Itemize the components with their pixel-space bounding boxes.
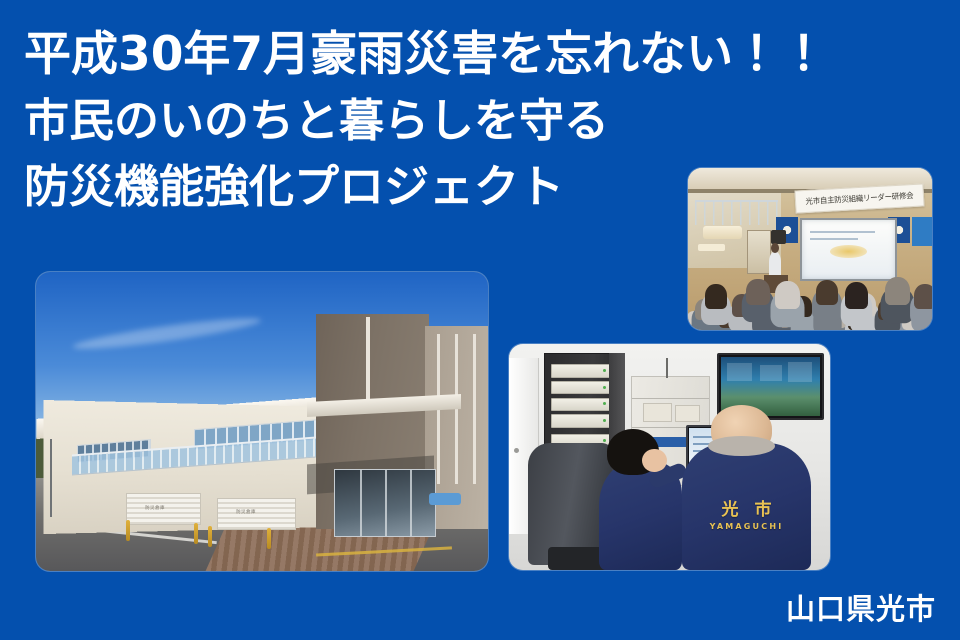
status-led [603,402,606,405]
door-knob [514,448,519,453]
garage-shutter-label: 防災倉庫 [146,504,166,510]
city-credit: 山口県光市 [786,590,936,628]
storage-box [675,405,700,422]
status-led [603,419,606,422]
building-entrance [334,469,435,537]
operator-person-left [599,462,682,570]
audience-person [845,282,869,308]
bollard [126,520,130,541]
status-led [603,439,606,442]
seminar-banner-text: 光市自主防災組織リーダー研修会 [806,190,914,208]
cabinet-shelf [632,398,709,399]
poster-canvas: 平成30年7月豪雨災害を忘れない！！ 市民のいのちと暮らしを守る 防災機能強化プ… [0,0,960,640]
door-mullion [410,470,412,536]
loudspeaker [771,230,786,245]
audience-person [775,281,800,309]
camera-tile [727,363,753,381]
balcony-rail [695,200,778,225]
antenna [666,358,668,378]
wall-light [698,244,725,250]
organization-flag [912,217,932,246]
bollard [194,523,198,544]
audience-person [885,277,910,305]
audience-person [746,279,770,305]
slide-text-line [810,238,858,240]
operator-person-right: 光 市 YAMAGUCHI [682,443,810,570]
status-led [603,386,606,389]
leader-training-seminar-photo: 光市自主防災組織リーダー研修会 [688,168,932,330]
rack-unit [551,414,611,428]
storage-box [643,403,673,422]
hair [708,436,775,456]
title-line-1: 平成30年7月豪雨災害を忘れない！！ [24,22,724,88]
door-mullion [360,470,362,536]
tower-fin [366,317,370,407]
audience-person [816,280,838,305]
garage-shutter-label: 防災倉庫 [236,509,256,515]
audience-group [688,259,932,330]
seminar-scene: 光市自主防災組織リーダー研修会 [688,168,932,330]
jacket-kanji-2: 市 [755,502,772,519]
rack-unit [551,398,611,412]
slide-graphic [830,245,867,258]
bollard [267,528,271,549]
jacket-kanji-group: 光 市 [722,502,772,519]
slide-text-line [810,231,875,233]
status-led [603,369,606,372]
title-line-2: 市民のいのちと暮らしを守る [24,88,724,154]
building-scene: 防災倉庫 防災倉庫 [36,272,488,571]
garage-shutter [217,498,296,530]
door-mullion [385,470,387,536]
disaster-control-room-photo: 光 市 YAMAGUCHI [509,344,830,570]
rack-unit [551,364,611,378]
tower-fin [473,334,476,484]
parked-car [429,493,461,505]
utility-pole [50,439,52,517]
control-room-scene: 光 市 YAMAGUCHI [509,344,830,570]
jacket-roman-text: YAMAGUCHI [710,522,784,531]
camera-tile [788,362,812,382]
title-line-3: 防災機能強化プロジェクト [24,154,724,220]
poster-title: 平成30年7月豪雨災害を忘れない！！ 市民のいのちと暮らしを守る 防災機能強化プ… [24,22,724,220]
disaster-prevention-building-photo: 防災倉庫 防災倉庫 [36,272,488,571]
jacket-kanji-1: 光 [722,502,739,519]
camera-tile [760,365,782,380]
audience-person [705,284,727,309]
audience-person [914,284,932,309]
rack-unit [551,381,611,395]
bollard [208,526,212,547]
wall-light [703,226,742,239]
